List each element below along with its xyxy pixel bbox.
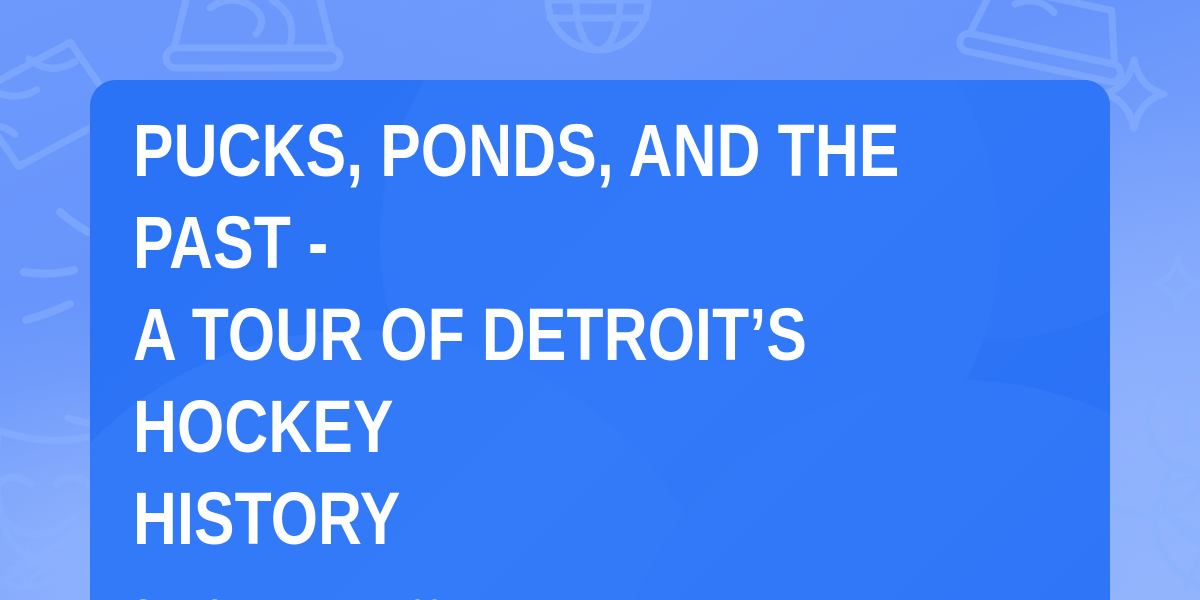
sparkle-icon bbox=[1104, 60, 1164, 128]
event-title: Pucks, Ponds, and the Past - A Tour of D… bbox=[133, 105, 901, 565]
laptop-icon bbox=[166, 0, 340, 68]
event-card-content: Pucks, Ponds, and the Past - A Tour of D… bbox=[133, 105, 1070, 600]
laptop-icon bbox=[958, 0, 1133, 83]
event-datetime: Sat, 21 Feb at 11:00 AM bbox=[133, 565, 920, 600]
event-card[interactable]: Pucks, Ponds, and the Past - A Tour of D… bbox=[90, 80, 1110, 600]
play-button-icon bbox=[1148, 368, 1200, 472]
globe-icon bbox=[548, 0, 648, 50]
event-poster: Pucks, Ponds, and the Past - A Tour of D… bbox=[0, 0, 1200, 600]
sparkle-icon bbox=[1155, 258, 1200, 309]
balloon-icon bbox=[1144, 466, 1200, 600]
confetti-icon bbox=[24, 212, 88, 320]
